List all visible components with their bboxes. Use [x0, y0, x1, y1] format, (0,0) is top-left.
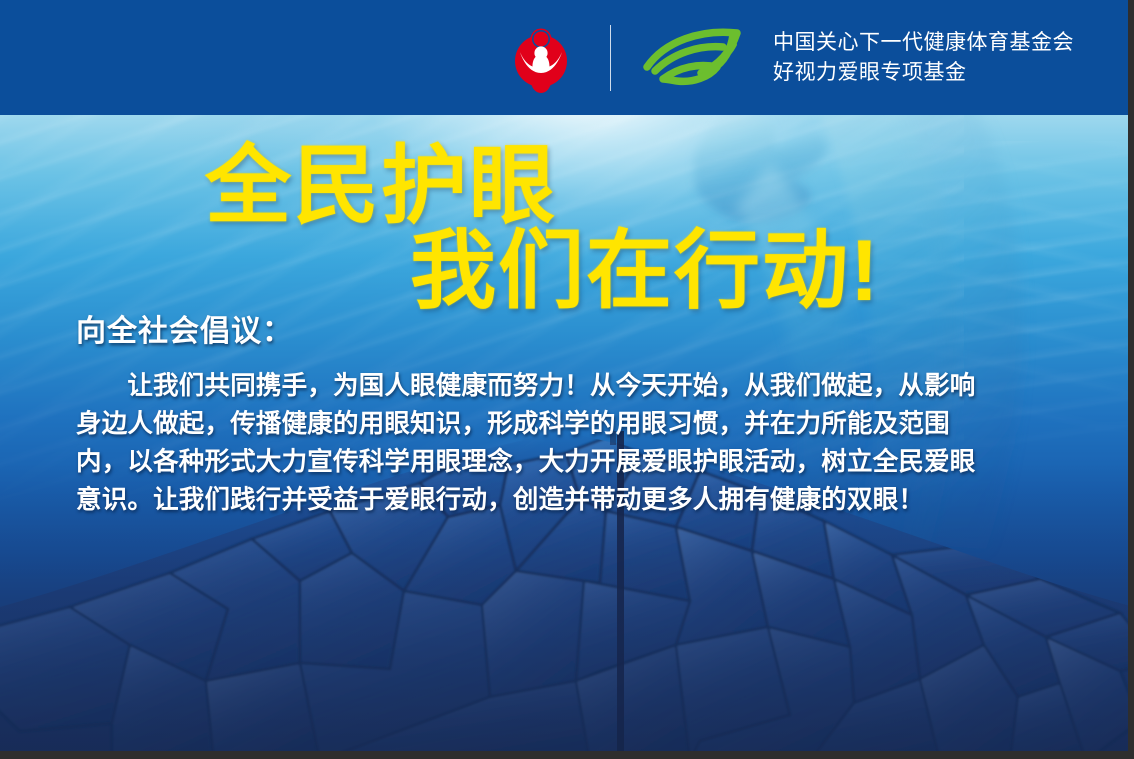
- logo-divider: [610, 25, 611, 91]
- eye-leaf-icon: [639, 27, 751, 89]
- poster-root: 中国关心下一代健康体育基金会 好视力爱眼专项基金 全民护眼 我们在行动! 向全社…: [0, 0, 1134, 759]
- copy-line: 意识。让我们践行并受益于爱眼行动，创造并带动更多人拥有健康的双眼！: [76, 482, 1076, 520]
- copy-heading: 向全社会倡议：: [76, 306, 1076, 350]
- header-band: 中国关心下一代健康体育基金会 好视力爱眼专项基金: [0, 0, 1128, 115]
- copy-line: 让我们共同携手，为国人眼健康而努力！从今天开始，从我们做起，从影响: [76, 368, 1076, 406]
- header-logo-group: 中国关心下一代健康体育基金会 好视力爱眼专项基金: [504, 0, 1074, 115]
- copy-line: 身边人做起，传播健康的用眼知识，形成科学的用眼习惯，并在力所能及范围: [76, 406, 1076, 444]
- proposal-copy: 向全社会倡议： 让我们共同携手，为国人眼健康而努力！从今天开始，从我们做起，从影…: [76, 306, 1076, 520]
- organization-name: 中国关心下一代健康体育基金会 好视力爱眼专项基金: [773, 28, 1074, 88]
- copy-line: 内，以各种形式大力宣传科学用眼理念，大力开展爱眼护眼活动，树立全民爱眼: [76, 444, 1076, 482]
- org-name-line1: 中国关心下一代健康体育基金会: [773, 28, 1074, 58]
- org-name-line2: 好视力爱眼专项基金: [773, 58, 1074, 88]
- copy-paragraph: 让我们共同携手，为国人眼健康而努力！从今天开始，从我们做起，从影响 身边人做起，…: [76, 368, 1076, 520]
- foundation-emblem-icon: [504, 21, 578, 95]
